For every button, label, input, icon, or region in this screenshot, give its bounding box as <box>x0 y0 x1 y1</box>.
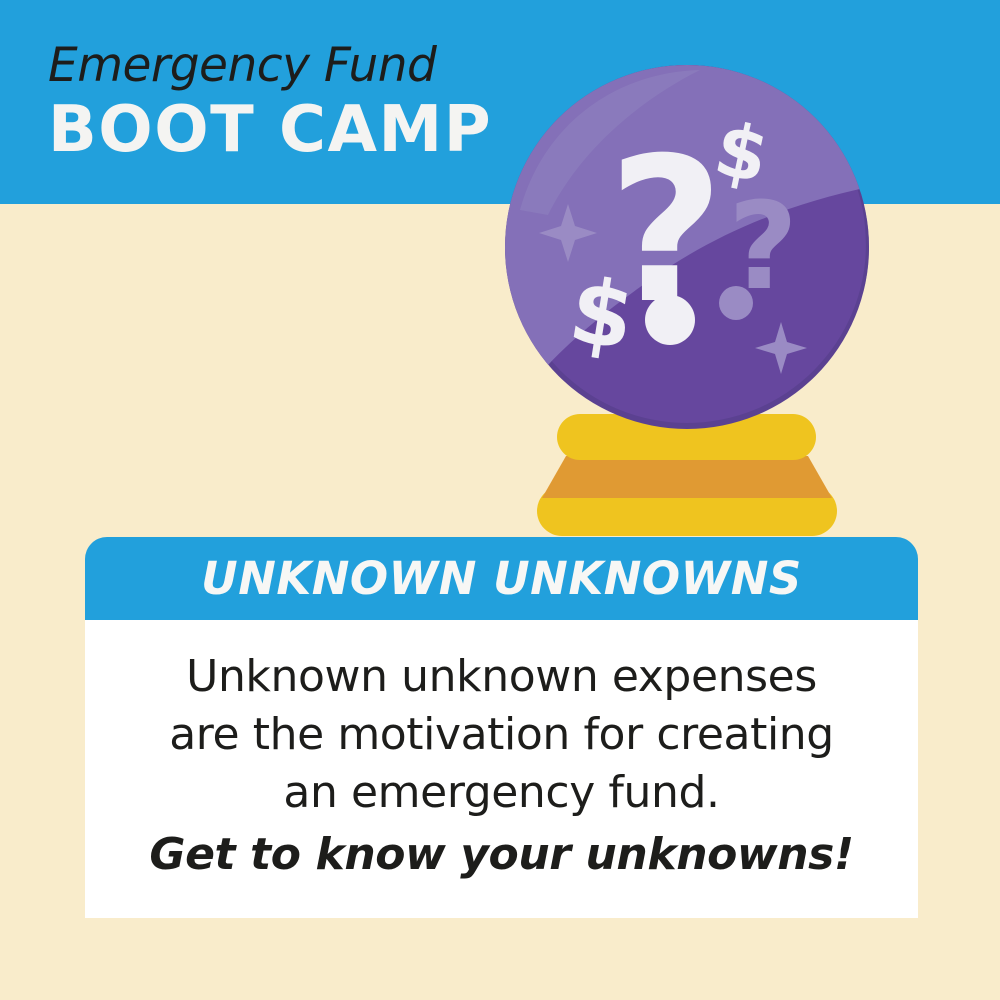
card-header-title: UNKNOWN UNKNOWNS <box>201 556 802 601</box>
card-body-line-1: Unknown unknown expenses <box>125 648 878 706</box>
card-body-line-3: an emergency fund. <box>125 764 878 822</box>
sphere-inner-shadow <box>500 300 640 427</box>
base-bottom-ring <box>537 486 837 536</box>
poster-canvas: Emergency Fund BOOT CAMP <box>0 0 1000 1000</box>
info-card: UNKNOWN UNKNOWNS Unknown unknown expense… <box>85 537 918 918</box>
dot-purple-icon <box>719 286 753 320</box>
card-header: UNKNOWN UNKNOWNS <box>85 537 918 620</box>
sparkle-left-icon <box>539 204 597 262</box>
base-top-ring <box>557 414 816 460</box>
sparkle-right-icon <box>755 322 807 374</box>
card-tagline: Get to know your unknowns! <box>125 826 878 884</box>
base-middle-trapezoid <box>542 456 832 498</box>
dollar-sign-lower-icon: $ <box>563 258 641 372</box>
card-body: Unknown unknown expenses are the motivat… <box>85 620 918 918</box>
card-body-line-2: are the motivation for creating <box>125 706 878 764</box>
dot-white-icon <box>645 295 695 345</box>
brand-title-bottom: BOOT CAMP <box>48 98 492 162</box>
brand-title-top: Emergency Fund <box>48 42 436 89</box>
